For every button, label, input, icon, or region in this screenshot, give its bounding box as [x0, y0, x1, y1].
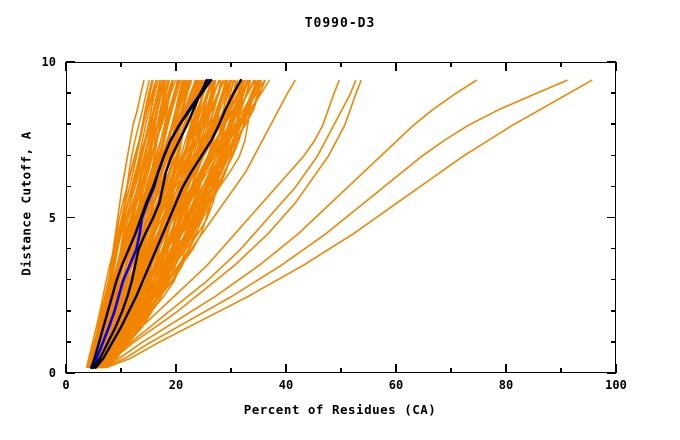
y-tick [66, 341, 71, 343]
x-tick [120, 62, 122, 67]
plot-area [66, 62, 616, 373]
x-tick [450, 62, 452, 67]
x-tick [395, 62, 397, 71]
y-tick [66, 61, 75, 63]
x-tick [65, 62, 67, 71]
x-tick [560, 62, 562, 67]
x-tick-label: 100 [605, 378, 627, 392]
y-tick [607, 372, 616, 374]
y-tick [66, 92, 71, 94]
y-tick [66, 186, 71, 188]
y-tick [611, 186, 616, 188]
y-tick-label: 10 [24, 55, 56, 69]
x-tick [175, 364, 177, 373]
x-tick-label: 0 [62, 378, 69, 392]
y-tick [607, 217, 616, 219]
y-tick [611, 341, 616, 343]
x-tick [120, 368, 122, 373]
y-tick [611, 248, 616, 250]
x-tick-label: 60 [389, 378, 403, 392]
x-tick [175, 62, 177, 71]
y-tick [611, 155, 616, 157]
x-tick [450, 368, 452, 373]
x-tick [230, 368, 232, 373]
y-tick [66, 155, 71, 157]
y-tick [611, 310, 616, 312]
y-tick [66, 123, 71, 125]
chart-title: T0990-D3 [0, 16, 680, 31]
x-tick-label: 80 [499, 378, 513, 392]
x-tick [615, 62, 617, 71]
y-tick [66, 248, 71, 250]
x-tick-label: 20 [169, 378, 183, 392]
x-tick [340, 368, 342, 373]
x-tick [230, 62, 232, 67]
x-tick-label: 40 [279, 378, 293, 392]
y-tick [611, 123, 616, 125]
y-tick [66, 279, 71, 281]
y-tick [611, 92, 616, 94]
x-tick [395, 364, 397, 373]
y-tick [607, 61, 616, 63]
x-tick [505, 364, 507, 373]
x-axis-title: Percent of Residues (CA) [0, 402, 680, 417]
y-tick [66, 372, 75, 374]
y-tick [66, 310, 71, 312]
x-tick [285, 62, 287, 71]
x-tick [505, 62, 507, 71]
x-tick [340, 62, 342, 67]
y-tick [611, 279, 616, 281]
y-tick [66, 217, 75, 219]
plot-curves [67, 63, 617, 374]
chart-root: T0990-D3 020406080100 0510 Percent of Re… [0, 0, 680, 440]
x-tick [560, 368, 562, 373]
y-axis-title: Distance Cutoff, A [19, 104, 34, 304]
x-tick [285, 364, 287, 373]
y-tick-label: 0 [24, 366, 56, 380]
orange-prediction-bundle [87, 80, 270, 368]
